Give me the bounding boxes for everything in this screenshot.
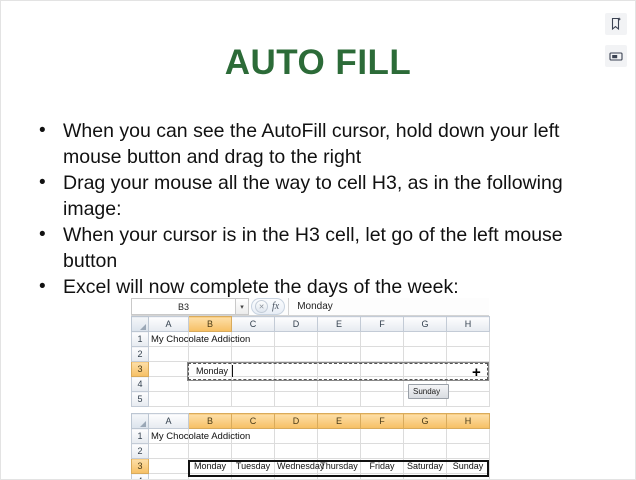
cell-g1[interactable] <box>404 332 447 347</box>
cell-d3[interactable]: Wednesday <box>275 459 318 474</box>
row-header-4[interactable]: 4 <box>132 474 149 480</box>
cell-f2[interactable] <box>361 444 404 459</box>
row-header-2[interactable]: 2 <box>132 347 149 362</box>
cell-e4[interactable] <box>318 474 361 480</box>
cell-c2[interactable] <box>232 444 275 459</box>
row-header-4[interactable]: 4 <box>132 377 149 392</box>
cell-f5[interactable] <box>361 392 404 407</box>
cell-d2[interactable] <box>275 347 318 362</box>
cell-f1[interactable] <box>361 429 404 444</box>
formula-button-group: ✕ fx <box>251 298 285 315</box>
row-header-5[interactable]: 5 <box>132 392 149 407</box>
col-header-c[interactable]: C <box>232 414 275 429</box>
bullet-list: • When you can see the AutoFill cursor, … <box>39 118 599 300</box>
cell-h1[interactable] <box>447 332 490 347</box>
col-header-f[interactable]: F <box>361 317 404 332</box>
cell-c3[interactable]: Tuesday <box>232 459 275 474</box>
excel-sheet-before: A B C D E F G H 1 My Chocolate Addiction <box>131 316 489 407</box>
cell-h4[interactable] <box>447 474 490 480</box>
select-all-corner[interactable] <box>132 317 149 332</box>
bullet-text: When your cursor is in the H3 cell, let … <box>63 222 599 274</box>
col-header-g[interactable]: G <box>404 317 447 332</box>
bullet-marker-icon: • <box>39 118 63 144</box>
bullet-text: Excel will now complete the days of the … <box>63 274 599 300</box>
formula-input[interactable]: Monday <box>288 298 489 315</box>
col-header-g[interactable]: G <box>404 414 447 429</box>
insert-function-icon[interactable]: fx <box>272 301 281 312</box>
cell-e1[interactable] <box>318 332 361 347</box>
excel-sheet-after: A B C D E F G H 1 My Chocolate Addiction <box>131 413 489 480</box>
col-header-h[interactable]: H <box>447 414 490 429</box>
cancel-icon[interactable]: ✕ <box>255 300 268 313</box>
cell-g1[interactable] <box>404 429 447 444</box>
cell-a3[interactable] <box>149 362 189 377</box>
cell-a1[interactable]: My Chocolate Addiction <box>149 332 189 347</box>
cell-e2[interactable] <box>318 444 361 459</box>
chevron-down-icon: ▾ <box>240 303 244 311</box>
cell-c4[interactable] <box>232 474 275 480</box>
table-row: 2 <box>132 347 490 362</box>
col-header-f[interactable]: F <box>361 414 404 429</box>
col-header-d[interactable]: D <box>275 414 318 429</box>
spreadsheet-grid-2: A B C D E F G H 1 My Chocolate Addiction <box>131 413 490 480</box>
cell-h5[interactable] <box>447 392 490 407</box>
cell-h4[interactable] <box>447 377 490 392</box>
cell-e3[interactable] <box>318 362 361 377</box>
row-header-3[interactable]: 3 <box>132 362 149 377</box>
page-title: AUTO FILL <box>1 43 635 83</box>
table-row: 2 <box>132 444 490 459</box>
cell-g2[interactable] <box>404 347 447 362</box>
cell-d1[interactable] <box>275 332 318 347</box>
cell-f4[interactable] <box>361 474 404 480</box>
cell-e4[interactable] <box>318 377 361 392</box>
list-item: • Drag your mouse all the way to cell H3… <box>39 170 599 222</box>
cell-a1[interactable]: My Chocolate Addiction <box>149 429 189 444</box>
cell-g3[interactable] <box>404 362 447 377</box>
col-header-b[interactable]: B <box>189 317 232 332</box>
cell-f1[interactable] <box>361 332 404 347</box>
cell-g4[interactable] <box>404 474 447 480</box>
list-item: • When your cursor is in the H3 cell, le… <box>39 222 599 274</box>
bullet-text: When you can see the AutoFill cursor, ho… <box>63 118 599 170</box>
column-header-row: A B C D E F G H <box>132 414 490 429</box>
col-header-a[interactable]: A <box>149 317 189 332</box>
name-box[interactable]: B3 <box>131 298 236 315</box>
cell-f2[interactable] <box>361 347 404 362</box>
col-header-b[interactable]: B <box>189 414 232 429</box>
cell-f4[interactable] <box>361 377 404 392</box>
col-header-c[interactable]: C <box>232 317 275 332</box>
cell-b2[interactable] <box>189 444 232 459</box>
cell-d5[interactable] <box>275 392 318 407</box>
cell-e1[interactable] <box>318 429 361 444</box>
cell-a3[interactable] <box>149 459 189 474</box>
list-item: • Excel will now complete the days of th… <box>39 274 599 300</box>
bullet-text: Drag your mouse all the way to cell H3, … <box>63 170 599 222</box>
excel-formula-bar: B3 ▾ ✕ fx Monday <box>131 298 489 316</box>
slide-canvas: AUTO FILL • When you can see the AutoFil… <box>0 0 636 480</box>
col-header-a[interactable]: A <box>149 414 189 429</box>
row-header-1[interactable]: 1 <box>132 429 149 444</box>
cell-b5[interactable] <box>189 392 232 407</box>
table-row: 3 <box>132 362 490 377</box>
cell-b4[interactable] <box>189 377 232 392</box>
cell-c3[interactable] <box>232 362 275 377</box>
cell-a4[interactable] <box>149 474 189 480</box>
col-header-h[interactable]: H <box>447 317 490 332</box>
table-row: 4 <box>132 474 490 480</box>
cell-d4[interactable] <box>275 377 318 392</box>
cell-d1[interactable] <box>275 429 318 444</box>
cell-e2[interactable] <box>318 347 361 362</box>
cell-g2[interactable] <box>404 444 447 459</box>
cell-a2[interactable] <box>149 347 189 362</box>
cell-d3[interactable] <box>275 362 318 377</box>
cell-c5[interactable] <box>232 392 275 407</box>
cell-d2[interactable] <box>275 444 318 459</box>
cell-a2[interactable] <box>149 444 189 459</box>
text-cursor <box>232 365 233 377</box>
row-header-3[interactable]: 3 <box>132 459 149 474</box>
col-header-e[interactable]: E <box>318 317 361 332</box>
cell-a5[interactable] <box>149 392 189 407</box>
cell-e3[interactable]: Thursday <box>318 459 361 474</box>
row-header-1[interactable]: 1 <box>132 332 149 347</box>
cell-a4[interactable] <box>149 377 189 392</box>
table-row: 3 Monday Tuesday Wednesday Thursday Frid… <box>132 459 490 474</box>
excel-screenshot-group: B3 ▾ ✕ fx Monday A B C D E F <box>131 298 489 480</box>
list-item: • When you can see the AutoFill cursor, … <box>39 118 599 170</box>
cell-e5[interactable] <box>318 392 361 407</box>
cell-b4[interactable] <box>189 474 232 480</box>
cell-c4[interactable] <box>232 377 275 392</box>
table-row: 1 My Chocolate Addiction <box>132 332 490 347</box>
col-header-d[interactable]: D <box>275 317 318 332</box>
cell-d4[interactable] <box>275 474 318 480</box>
select-all-corner[interactable] <box>132 414 149 429</box>
bullet-marker-icon: • <box>39 274 63 300</box>
active-cell-value: Monday <box>192 365 228 378</box>
column-header-row: A B C D E F G H <box>132 317 490 332</box>
cell-h2[interactable] <box>447 347 490 362</box>
cell-c2[interactable] <box>232 347 275 362</box>
cell-h3[interactable] <box>447 362 490 377</box>
cell-h2[interactable] <box>447 444 490 459</box>
autofill-plus-cursor-icon: + <box>472 368 481 378</box>
row-header-2[interactable]: 2 <box>132 444 149 459</box>
cell-f3[interactable]: Friday <box>361 459 404 474</box>
autofill-tooltip: Sunday <box>408 384 449 399</box>
bullet-marker-icon: • <box>39 222 63 248</box>
cell-b3[interactable]: Monday <box>189 459 232 474</box>
cell-f3[interactable] <box>361 362 404 377</box>
name-box-dropdown-icon[interactable]: ▾ <box>236 298 249 315</box>
col-header-e[interactable]: E <box>318 414 361 429</box>
cell-h3[interactable]: Sunday <box>447 459 490 474</box>
bullet-marker-icon: • <box>39 170 63 196</box>
cell-g3[interactable]: Saturday <box>404 459 447 474</box>
cell-b2[interactable] <box>189 347 232 362</box>
bookmark-icon[interactable] <box>605 13 627 35</box>
table-row: 1 My Chocolate Addiction <box>132 429 490 444</box>
cell-h1[interactable] <box>447 429 490 444</box>
